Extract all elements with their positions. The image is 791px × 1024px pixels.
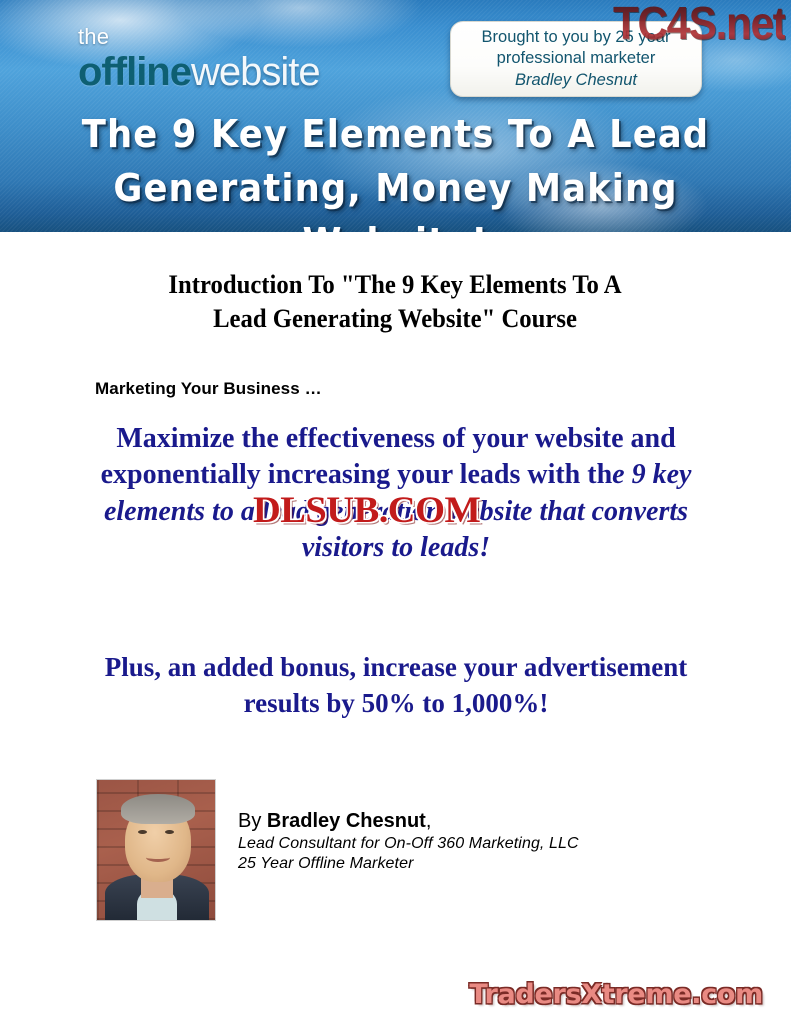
page-title-line-2: Lead Generating Website" Course — [110, 302, 680, 336]
author-by-prefix: By — [238, 810, 267, 832]
bonus-paragraph: Plus, an added bonus, increase your adve… — [82, 650, 710, 721]
watermark-top-right: TC4S.net — [613, 0, 785, 50]
author-role: Lead Consultant for On-Off 360 Marketing… — [238, 834, 579, 855]
watermark-bottom-right: TradersXtreme.com — [469, 979, 763, 1010]
header-banner: the offlinewebsite Brought to you by 25 … — [0, 0, 791, 232]
site-logo: the offlinewebsite — [78, 26, 320, 92]
document-page: the offlinewebsite Brought to you by 25 … — [0, 0, 791, 1024]
page-title-line-1: Introduction To "The 9 Key Elements To A — [110, 268, 680, 302]
badge-line-2: professional marketer — [497, 48, 656, 69]
section-kicker: Marketing Your Business … — [95, 379, 322, 399]
photo-eye-right — [165, 830, 174, 834]
logo-word-the: the — [78, 26, 320, 48]
photo-hair — [121, 794, 195, 824]
headline-line-2: Generating, Money Making Website! — [28, 162, 764, 232]
photo-eye-left — [138, 830, 147, 834]
logo-word-website: website — [191, 50, 320, 94]
banner-headline: The 9 Key Elements To A Lead Generating,… — [28, 108, 764, 232]
author-name-line: By Bradley Chesnut, — [238, 810, 579, 834]
pitch-upright-text: Maximize the effectiveness of your websi… — [101, 423, 676, 490]
logo-word-offline: offline — [78, 50, 191, 94]
author-photo — [96, 779, 216, 921]
page-title: Introduction To "The 9 Key Elements To A… — [110, 268, 680, 336]
badge-author-name: Bradley Chesnut — [515, 70, 637, 91]
author-name: Bradley Chesnut — [267, 810, 426, 832]
author-byline: By Bradley Chesnut, Lead Consultant for … — [96, 779, 579, 921]
watermark-dlsub: DLSUB.COM — [253, 489, 480, 532]
logo-wordmark: offlinewebsite — [78, 52, 320, 92]
author-details: By Bradley Chesnut, Lead Consultant for … — [238, 779, 579, 875]
photo-smile — [146, 853, 170, 862]
author-name-suffix: , — [426, 810, 432, 832]
author-experience: 25 Year Offline Marketer — [238, 854, 579, 875]
headline-line-1: The 9 Key Elements To A Lead — [28, 108, 764, 162]
